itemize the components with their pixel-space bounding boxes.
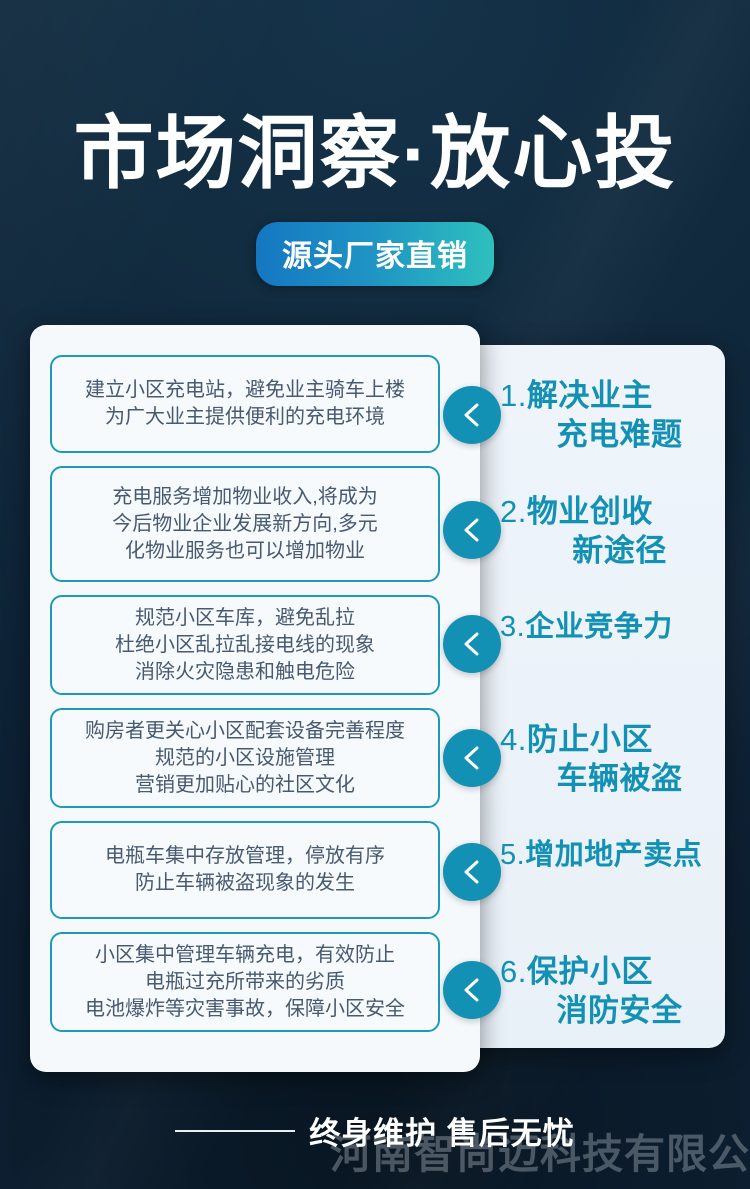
benefit-card-text: 规范小区车库，避免乱拉 杜绝小区乱拉乱接电线的现象 消除火灾隐患和触电危险 <box>115 605 375 686</box>
benefit-card-text: 建立小区充电站，避免业主骑车上楼 为广大业主提供便利的充电环境 <box>85 377 405 431</box>
list-item-label: 防止小区 <box>527 722 653 757</box>
footer: 终身维护 售后无忧 <box>0 1108 750 1153</box>
list-item-label-2: 充电难题 <box>500 416 725 455</box>
list-item-number: 1. <box>500 378 527 413</box>
marker-column <box>443 325 503 1085</box>
benefit-card[interactable]: 建立小区充电站，避免业主骑车上楼 为广大业主提供便利的充电环境 <box>50 355 440 453</box>
source-factory-badge: 源头厂家直销 <box>256 222 494 286</box>
list-item-number: 2. <box>500 494 527 529</box>
chevron-left-icon <box>443 615 501 673</box>
benefit-card[interactable]: 电瓶车集中存放管理，停放有序 防止车辆被盗现象的发生 <box>50 821 440 919</box>
benefit-card-text: 小区集中管理车辆充电，有效防止 电瓶过充所带来的劣质 电池爆炸等灾害事故，保障小… <box>85 942 405 1023</box>
list-item[interactable]: 6.保护小区 消防安全 <box>500 953 725 1031</box>
badge-container: 源头厂家直销 <box>0 222 750 286</box>
page-title: 市场洞察·放心投 <box>0 112 750 196</box>
list-item-label: 物业创收 <box>527 494 653 529</box>
list-item-label-2: 消防安全 <box>500 992 725 1031</box>
list-item-label: 企业竞争力 <box>525 611 673 643</box>
numbered-benefit-list: 1.解决业主 充电难题 2.物业创收 新途径 3.企业竞争力 4.防止小区 车辆… <box>500 345 725 1048</box>
list-item-label: 解决业主 <box>527 378 653 413</box>
chevron-left-icon <box>443 961 501 1019</box>
benefit-card-text: 电瓶车集中存放管理，停放有序 防止车辆被盗现象的发生 <box>105 843 385 897</box>
list-item[interactable]: 3.企业竞争力 <box>500 609 725 645</box>
benefit-card[interactable]: 规范小区车库，避免乱拉 杜绝小区乱拉乱接电线的现象 消除火灾隐患和触电危险 <box>50 595 440 695</box>
list-item-number: 5. <box>500 839 525 871</box>
list-item-label-2: 新途径 <box>500 532 725 571</box>
footer-slogan: 终身维护 售后无忧 <box>309 1108 575 1153</box>
chevron-left-icon <box>443 843 501 901</box>
benefit-card[interactable]: 购房者更关心小区配套设备完善程度 规范的小区设施管理 营销更加贴心的社区文化 <box>50 708 440 808</box>
list-item-number: 4. <box>500 722 527 757</box>
benefit-card-list: 建立小区充电站，避免业主骑车上楼 为广大业主提供便利的充电环境 充电服务增加物业… <box>50 355 440 1045</box>
list-item-number: 3. <box>500 611 525 643</box>
list-item[interactable]: 1.解决业主 充电难题 <box>500 377 725 455</box>
chevron-left-icon <box>443 729 501 787</box>
list-item-label-2: 车辆被盗 <box>500 760 725 799</box>
chevron-left-icon <box>443 501 501 559</box>
list-item-number: 6. <box>500 954 527 989</box>
footer-divider <box>175 1130 295 1132</box>
list-item[interactable]: 2.物业创收 新途径 <box>500 493 725 571</box>
list-item[interactable]: 5.增加地产卖点 <box>500 837 725 873</box>
benefit-card[interactable]: 充电服务增加物业收入,将成为 今后物业企业发展新方向,多元 化物业服务也可以增加… <box>50 466 440 582</box>
list-item-label: 保护小区 <box>527 954 653 989</box>
benefit-card-text: 购房者更关心小区配套设备完善程度 规范的小区设施管理 营销更加贴心的社区文化 <box>85 718 405 799</box>
chevron-left-icon <box>443 386 501 444</box>
list-item-label: 增加地产卖点 <box>525 839 702 871</box>
benefit-card[interactable]: 小区集中管理车辆充电，有效防止 电瓶过充所带来的劣质 电池爆炸等灾害事故，保障小… <box>50 932 440 1032</box>
header: 市场洞察·放心投 源头厂家直销 <box>0 0 750 286</box>
benefit-card-text: 充电服务增加物业收入,将成为 今后物业企业发展新方向,多元 化物业服务也可以增加… <box>112 484 378 565</box>
list-item[interactable]: 4.防止小区 车辆被盗 <box>500 721 725 799</box>
